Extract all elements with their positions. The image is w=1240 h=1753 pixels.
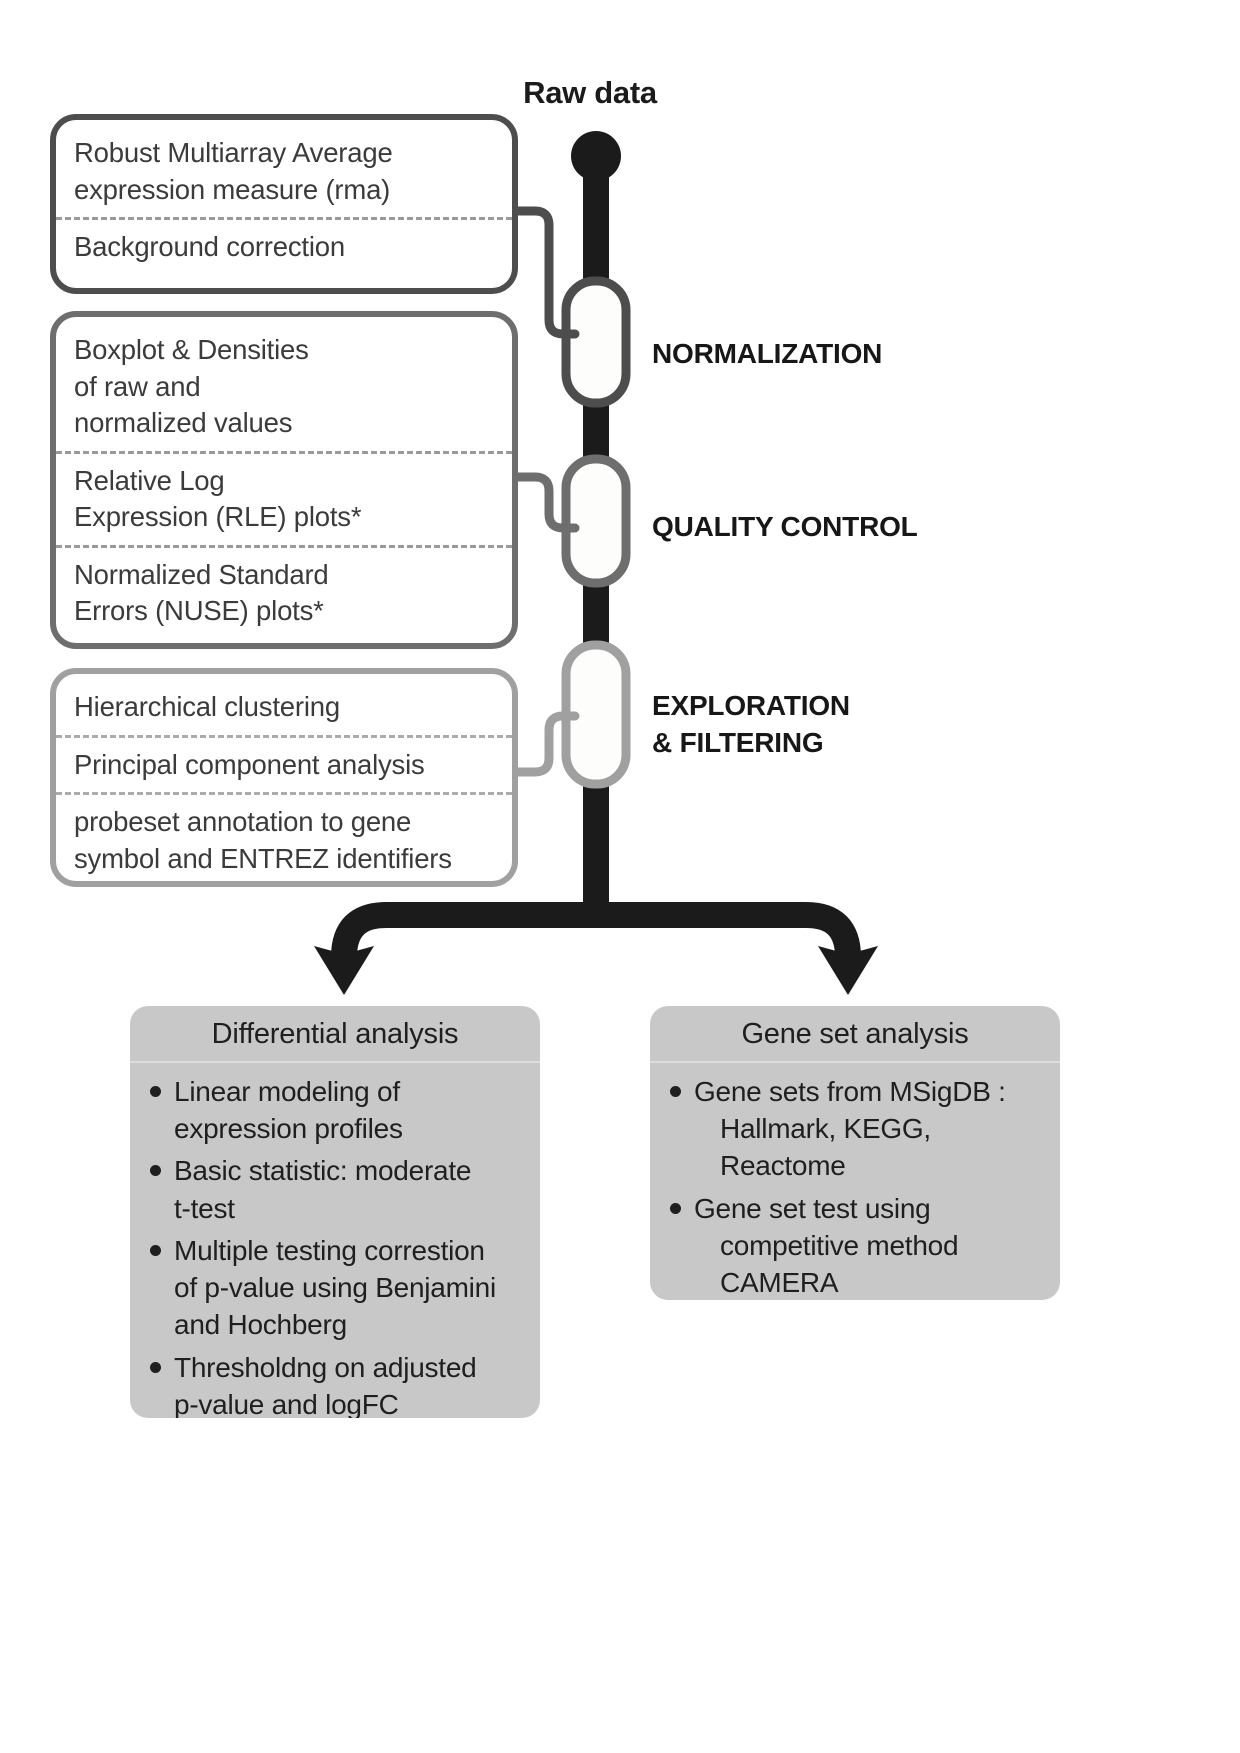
- stage-item-rle-plots: Relative Log Expression (RLE) plots*: [56, 451, 512, 545]
- stage-item-hierarchical-clustering: Hierarchical clustering: [56, 680, 512, 735]
- stage-item-pca: Principal component analysis: [56, 735, 512, 793]
- list-item: Basic statistic: moderate t-test: [144, 1152, 526, 1226]
- stage-item-line: Normalized Standard: [74, 559, 329, 590]
- workflow-diagram: Raw data: [0, 0, 1240, 1753]
- stage-item-boxplot-densities: Boxplot & Densities of raw and normalize…: [56, 323, 512, 451]
- stage-item-line: Relative Log: [74, 465, 224, 496]
- stage-item-line: Expression (RLE) plots*: [74, 501, 361, 532]
- result-panel-differential-analysis: Differential analysis Linear modeling of…: [130, 1006, 540, 1418]
- raw-data-node-dot: [571, 131, 621, 181]
- arrow-head-right: [818, 925, 878, 995]
- list-item-line: Multiple testing correstion: [174, 1235, 485, 1266]
- stage-label-exploration: EXPLORATION & FILTERING: [652, 688, 850, 762]
- result-panel-title: Gene set analysis: [650, 1006, 1060, 1063]
- list-item-line: competitive method: [694, 1227, 1046, 1264]
- spine-main: [571, 131, 621, 903]
- differential-analysis-bullet-list: Linear modeling of expression profiles B…: [130, 1063, 540, 1418]
- list-item-line: expression profiles: [174, 1110, 526, 1147]
- gene-set-analysis-bullet-list: Gene sets from MSigDB : Hallmark, KEGG, …: [650, 1063, 1060, 1300]
- connector-exploration: [515, 716, 575, 772]
- stage-node-quality-control: [566, 459, 626, 583]
- stage-item-probeset-annotation: probeset annotation to gene symbol and E…: [56, 792, 512, 886]
- list-item-line: p-value and logFC: [174, 1386, 526, 1418]
- stage-label-line: & FILTERING: [652, 727, 824, 758]
- stage-item-background-correction: Background correction: [56, 217, 512, 275]
- list-item-line: Gene sets from MSigDB :: [694, 1076, 1006, 1107]
- spine-segment-3: [583, 580, 609, 650]
- stage-item-line: Hierarchical clustering: [74, 691, 340, 722]
- list-item: Multiple testing correstion of p-value u…: [144, 1232, 526, 1344]
- list-item-line: t-test: [174, 1190, 526, 1227]
- stage-box-quality-control: Boxplot & Densities of raw and normalize…: [50, 311, 518, 649]
- stage-box-normalization: Robust Multiarray Average expression mea…: [50, 114, 518, 294]
- branch-right-path: [596, 915, 848, 957]
- connector-quality-control: [515, 477, 575, 528]
- stage-item-line: Robust Multiarray Average: [74, 137, 393, 168]
- stage-item-line: of raw and: [74, 371, 200, 402]
- list-item-line: Linear modeling of: [174, 1076, 400, 1107]
- result-panel-gene-set-analysis: Gene set analysis Gene sets from MSigDB …: [650, 1006, 1060, 1300]
- bullet-dot-icon: [150, 1165, 161, 1176]
- stage-item-line: probeset annotation to gene: [74, 806, 411, 837]
- stage-item-line: expression measure (rma): [74, 174, 390, 205]
- stage-label-normalization: NORMALIZATION: [652, 336, 882, 373]
- bullet-dot-icon: [150, 1245, 161, 1256]
- stage-item-line: symbol and ENTREZ identifiers: [74, 843, 452, 874]
- spine-segment-1: [583, 150, 609, 295]
- stage-item-line: Boxplot & Densities: [74, 334, 309, 365]
- stage-item-rma: Robust Multiarray Average expression mea…: [56, 126, 512, 217]
- stage-node-exploration: [566, 645, 626, 784]
- stage-label-quality-control: QUALITY CONTROL: [652, 509, 918, 546]
- list-item-line: and Hochberg: [174, 1306, 526, 1343]
- list-item: Thresholdng on adjusted p-value and logF…: [144, 1349, 526, 1418]
- list-item-line: Gene set test using: [694, 1193, 931, 1224]
- connector-normalization: [515, 211, 575, 334]
- arrow-head-left: [314, 925, 374, 995]
- branch-arrows: [314, 915, 878, 995]
- stage-item-line: Background correction: [74, 231, 345, 262]
- spine-segment-4: [583, 778, 609, 903]
- branch-left-path: [344, 915, 596, 957]
- list-item: Gene set test using competitive method C…: [664, 1190, 1046, 1300]
- list-item-line: Basic statistic: moderate: [174, 1155, 471, 1186]
- stage-item-nuse-plots: Normalized Standard Errors (NUSE) plots*: [56, 545, 512, 639]
- bullet-dot-icon: [150, 1086, 161, 1097]
- stage-item-line: Errors (NUSE) plots*: [74, 595, 324, 626]
- list-item-line: Thresholdng on adjusted: [174, 1352, 476, 1383]
- bullet-dot-icon: [670, 1203, 681, 1214]
- list-item-line: of p-value using Benjamini: [174, 1269, 526, 1306]
- list-item-line: Reactome: [694, 1147, 1046, 1184]
- stage-label-line: EXPLORATION: [652, 690, 850, 721]
- stage-node-normalization: [566, 281, 626, 403]
- list-item-line: CAMERA: [694, 1264, 1046, 1300]
- stage-box-exploration: Hierarchical clustering Principal compon…: [50, 668, 518, 887]
- list-item: Linear modeling of expression profiles: [144, 1073, 526, 1147]
- spine-segment-2: [583, 395, 609, 473]
- list-item: Gene sets from MSigDB : Hallmark, KEGG, …: [664, 1073, 1046, 1185]
- list-item-line: Hallmark, KEGG,: [694, 1110, 1046, 1147]
- result-panel-title: Differential analysis: [130, 1006, 540, 1063]
- bullet-dot-icon: [670, 1086, 681, 1097]
- page-title: Raw data: [440, 75, 740, 111]
- bullet-dot-icon: [150, 1362, 161, 1373]
- stage-item-line: normalized values: [74, 407, 292, 438]
- stage-item-line: Principal component analysis: [74, 749, 425, 780]
